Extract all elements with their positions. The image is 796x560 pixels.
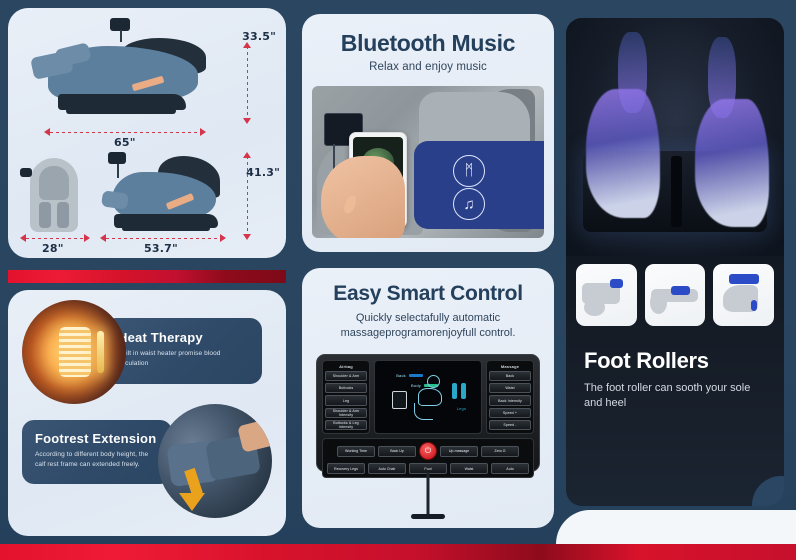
screen-tag-legs: Legs bbox=[457, 406, 466, 411]
bluetooth-photo: ᛗ ♫ bbox=[312, 86, 544, 238]
dimension-label-height-folded: 41.3" bbox=[246, 166, 280, 179]
foot-rollers-card: Foot Rollers The foot roller can sooth y… bbox=[566, 18, 784, 506]
foot-rollers-text: Foot Rollers The foot roller can sooth y… bbox=[584, 348, 770, 412]
remote-airbag-header: Airbag bbox=[339, 364, 353, 369]
remote-button[interactable]: Auto bbox=[491, 463, 529, 474]
remote-button[interactable]: Shoulder & Arm bbox=[325, 371, 367, 381]
remote-stand-base bbox=[411, 514, 445, 519]
bluetooth-overlay-panel: ᛗ ♫ bbox=[414, 141, 544, 229]
music-glyph: ♫ bbox=[463, 196, 474, 213]
power-icon: ⏻ bbox=[425, 446, 431, 456]
music-note-icon: ♫ bbox=[453, 188, 485, 220]
remote-button[interactable]: Back Intensity bbox=[489, 395, 531, 405]
remote-button[interactable]: Speed - bbox=[489, 420, 531, 430]
bluetooth-music-card: Bluetooth Music Relax and enjoy music ᛗ … bbox=[302, 14, 554, 252]
bluetooth-subtitle: Relax and enjoy music bbox=[302, 61, 554, 73]
remote-power-button[interactable]: ⏻ bbox=[419, 442, 437, 460]
footrest-extension-image bbox=[158, 404, 272, 518]
remote-button[interactable]: Zero G bbox=[481, 446, 519, 457]
remote-airbag-column: Airbag Shoulder & Arm Buttocks Leg Shoul… bbox=[322, 360, 370, 434]
feature-footrest-extension: Footrest Extension According to differen… bbox=[8, 404, 286, 532]
remote-control[interactable]: Airbag Shoulder & Arm Buttocks Leg Shoul… bbox=[316, 354, 540, 472]
smart-control-subtitle: Quickly selectafully automatic massagepr… bbox=[302, 311, 554, 341]
dimension-diagram: 33.5" 65" bbox=[8, 8, 286, 258]
remote-button[interactable]: Waist bbox=[489, 383, 531, 393]
screen-tag-back: Back bbox=[396, 373, 406, 378]
remote-button[interactable]: Speed + bbox=[489, 408, 531, 418]
bottom-red-bar bbox=[0, 544, 796, 560]
roller-side-view[interactable] bbox=[576, 264, 637, 326]
remote-button[interactable]: Auto Chair bbox=[368, 463, 406, 474]
center-column: Bluetooth Music Relax and enjoy music ᛗ … bbox=[302, 14, 554, 530]
remote-screen: Back Body Legs bbox=[374, 360, 482, 434]
heat-glow-image bbox=[22, 300, 126, 404]
foot-rollers-title: Foot Rollers bbox=[584, 348, 770, 374]
roller-top-view[interactable] bbox=[645, 264, 706, 326]
right-column: Foot Rollers The foot roller can sooth y… bbox=[566, 18, 784, 506]
remote-stand bbox=[427, 472, 430, 516]
chair-front-view bbox=[22, 156, 86, 234]
heat-therapy-label: Heat Therapy Built in waist heater promi… bbox=[104, 318, 262, 384]
remote-button[interactable]: Back bbox=[489, 371, 531, 381]
white-swoosh-accent bbox=[556, 510, 796, 544]
remote-button[interactable]: Buttocks & Leg Intensity bbox=[325, 420, 367, 430]
smart-control-subtitle-line1: Quickly selectafully automatic bbox=[316, 311, 540, 326]
screen-legs-icon bbox=[452, 373, 470, 399]
remote-button[interactable]: Recovery Legs bbox=[327, 463, 365, 474]
corner-accent bbox=[752, 476, 784, 506]
remote-massage-header: Massage bbox=[501, 364, 519, 369]
remote-button[interactable]: Buttocks bbox=[325, 383, 367, 393]
smart-control-subtitle-line2: massageprogramorenjoyfull control. bbox=[316, 326, 540, 341]
smart-control-title: Easy Smart Control bbox=[302, 268, 554, 306]
bluetooth-glyph: ᛗ bbox=[465, 162, 474, 179]
roller-detail-view[interactable] bbox=[713, 264, 774, 326]
roller-thumbnails bbox=[566, 264, 784, 326]
remote-button[interactable]: Shoulder & Arm Intensity bbox=[325, 408, 367, 418]
hand-holding-phone bbox=[321, 156, 405, 238]
feature-heat-therapy: Heat Therapy Built in waist heater promi… bbox=[8, 290, 286, 410]
bluetooth-icon: ᛗ bbox=[453, 155, 485, 187]
chair-side-reclined bbox=[36, 32, 206, 124]
screen-device-icon bbox=[392, 391, 407, 409]
bluetooth-title: Bluetooth Music bbox=[302, 14, 554, 57]
heat-therapy-subtitle: Built in waist heater promise blood circ… bbox=[118, 349, 248, 369]
poster-page: 33.5" 65" bbox=[0, 0, 796, 560]
remote-button[interactable]: Waist bbox=[450, 463, 488, 474]
scanned-feet-on-rollers bbox=[566, 18, 784, 256]
remote-button[interactable]: Leg bbox=[325, 395, 367, 405]
chair-side-upright bbox=[104, 154, 224, 236]
screen-body-figure bbox=[415, 375, 445, 423]
footrest-extension-label: Footrest Extension According to differen… bbox=[22, 420, 172, 484]
features-card: Heat Therapy Built in waist heater promi… bbox=[8, 290, 286, 536]
remote-massage-column: Massage Back Waist Back Intensity Speed … bbox=[486, 360, 534, 434]
remote-button[interactable]: Up-massage bbox=[440, 446, 478, 457]
dimensions-card: 33.5" 65" bbox=[8, 8, 286, 258]
red-divider-strip bbox=[8, 270, 286, 283]
dimension-label-width: 28" bbox=[42, 242, 64, 255]
remote-button[interactable]: Back Up bbox=[378, 446, 416, 457]
remote-button[interactable]: Working Time bbox=[337, 446, 375, 457]
footrest-extension-title: Footrest Extension bbox=[35, 431, 159, 446]
smart-control-card: Easy Smart Control Quickly selectafully … bbox=[302, 268, 554, 528]
heat-therapy-title: Heat Therapy bbox=[118, 330, 248, 345]
dimension-label-length-upright: 53.7" bbox=[144, 242, 178, 255]
left-column: 33.5" 65" bbox=[8, 8, 286, 548]
dimension-label-length-reclined: 65" bbox=[114, 136, 136, 149]
foot-rollers-subtitle: The foot roller can sooth your sole and … bbox=[584, 381, 770, 412]
footrest-extension-subtitle: According to different body height, the … bbox=[35, 450, 159, 470]
